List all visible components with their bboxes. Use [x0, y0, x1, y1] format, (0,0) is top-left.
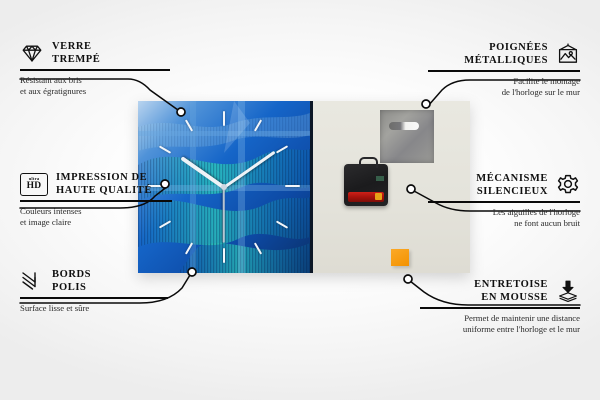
polished-edge-icon [20, 269, 44, 293]
callout-divider [20, 297, 168, 299]
product-image [138, 101, 470, 273]
callout-header: VERRE TREMPÉ [20, 40, 170, 66]
clock-movement [344, 164, 388, 206]
callout-divider [20, 69, 170, 71]
second-hand [223, 187, 225, 243]
callout-header: BORDS POLIS [20, 268, 168, 294]
callout-title: IMPRESSION DE HAUTE QUALITÉ [56, 171, 152, 197]
movement-hanger-loop [359, 157, 378, 168]
hour-tick [185, 119, 193, 131]
callout-header: MÉCANISME SILENCIEUX [428, 172, 580, 198]
hanger-keyhole-slot [389, 122, 419, 130]
hour-tick [185, 242, 193, 254]
callout-impression-haute-qualite: ultra HD IMPRESSION DE HAUTE QUALITÉ Cou… [20, 171, 172, 228]
callout-entretoise-en-mousse: ENTRETOISE EN MOUSSE Permet de maintenir… [420, 278, 580, 335]
badge-hd-label: HD [27, 182, 42, 192]
callout-title: VERRE TREMPÉ [52, 40, 100, 66]
callout-divider [20, 200, 172, 202]
diamond-icon [20, 41, 44, 65]
callout-verre-trempe: VERRE TREMPÉ Résistant aux bris et aux é… [20, 40, 170, 97]
callout-bords-polis: BORDS POLIS Surface lisse et sûre [20, 268, 168, 314]
callout-description: Surface lisse et sûre [20, 303, 168, 314]
callout-header: ENTRETOISE EN MOUSSE [420, 278, 580, 304]
hour-tick [276, 220, 288, 228]
callout-header: POIGNÉES MÉTALLIQUES [428, 41, 580, 67]
clock-hub [221, 184, 227, 190]
movement-label [376, 176, 384, 181]
callout-title: POIGNÉES MÉTALLIQUES [464, 41, 548, 67]
callout-divider [428, 201, 580, 203]
infographic-canvas: VERRE TREMPÉ Résistant aux bris et aux é… [0, 0, 600, 400]
callout-title: BORDS POLIS [52, 268, 91, 294]
callout-divider [420, 307, 580, 309]
callout-description: Facilite le montage de l'horloge sur le … [428, 76, 580, 98]
hour-tick [276, 145, 288, 153]
callout-mecanisme-silencieux: MÉCANISME SILENCIEUX Les aiguilles de l'… [428, 172, 580, 229]
metal-hanger-plate [380, 110, 434, 163]
callout-poignees-metalliques: POIGNÉES MÉTALLIQUES Facilite le montage… [428, 41, 580, 98]
arrow-onto-layers-icon [556, 279, 580, 303]
callout-header: ultra HD IMPRESSION DE HAUTE QUALITÉ [20, 171, 172, 197]
callout-divider [428, 70, 580, 72]
hour-tick [254, 242, 262, 254]
anchor-dot-entretoise [404, 275, 412, 283]
battery-plus-terminal [375, 193, 382, 200]
callout-title: ENTRETOISE EN MOUSSE [474, 278, 548, 304]
foam-spacer [391, 249, 409, 266]
hour-tick [254, 119, 262, 131]
hour-tick [285, 185, 300, 187]
callout-title: MÉCANISME SILENCIEUX [476, 172, 548, 198]
hour-tick [159, 145, 171, 153]
minute-hand [223, 151, 276, 189]
hour-tick [223, 111, 225, 126]
callout-description: Résistant aux bris et aux égratignures [20, 75, 170, 97]
hanging-frame-icon [556, 42, 580, 66]
hour-tick [223, 248, 225, 263]
callout-description: Permet de maintenir une distance uniform… [420, 313, 580, 335]
gear-icon [556, 173, 580, 197]
callout-description: Couleurs intenses et image claire [20, 206, 172, 228]
battery [348, 192, 384, 202]
ultra-hd-badge-icon: ultra HD [20, 173, 48, 196]
hour-hand [180, 156, 225, 189]
callout-description: Les aiguilles de l'horloge ne font aucun… [428, 207, 580, 229]
